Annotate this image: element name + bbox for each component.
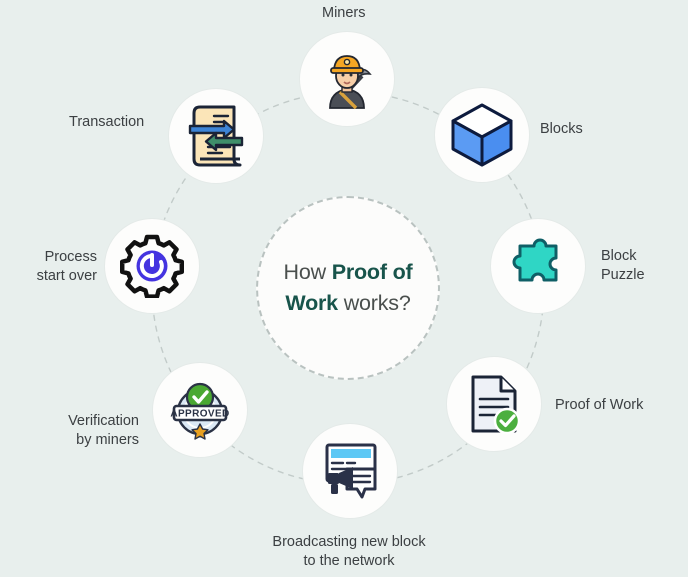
cube-block-icon <box>450 102 514 168</box>
hub-title-suffix: works? <box>338 291 411 315</box>
node-broadcast[interactable] <box>302 423 398 519</box>
transaction-scroll-icon <box>184 102 248 170</box>
svg-text:APPROVED: APPROVED <box>170 409 229 420</box>
node-blocks[interactable] <box>434 87 530 183</box>
miner-worker-icon <box>316 48 378 110</box>
proof-of-work-infographic: How Proof of Work works? <box>0 0 688 577</box>
node-verify[interactable]: APPROVED <box>152 362 248 458</box>
label-miners: Miners <box>322 4 366 23</box>
node-transaction[interactable] <box>168 88 264 184</box>
hub-title: How Proof of Work works? <box>266 257 431 318</box>
center-hub: How Proof of Work works? <box>256 196 440 380</box>
puzzle-piece-icon <box>506 234 570 298</box>
label-broadcasting: Broadcasting new block to the network <box>265 533 433 571</box>
label-blocks: Blocks <box>540 120 583 139</box>
node-pow[interactable] <box>446 356 542 452</box>
label-transaction: Transaction <box>69 113 144 132</box>
approved-badge-icon: APPROVED <box>169 379 231 441</box>
megaphone-broadcast-icon <box>319 441 381 501</box>
label-process-start-over: Process start over <box>0 248 97 286</box>
label-puzzle: Block Puzzle <box>601 247 645 285</box>
node-process[interactable] <box>104 218 200 314</box>
node-puzzle[interactable] <box>490 218 586 314</box>
hub-title-prefix: How <box>284 260 332 284</box>
document-check-icon <box>465 373 523 435</box>
label-verification: Verification by miners <box>0 412 139 450</box>
gear-restart-icon <box>120 234 184 298</box>
node-miners[interactable] <box>299 31 395 127</box>
label-proof-of-work: Proof of Work <box>555 396 643 415</box>
